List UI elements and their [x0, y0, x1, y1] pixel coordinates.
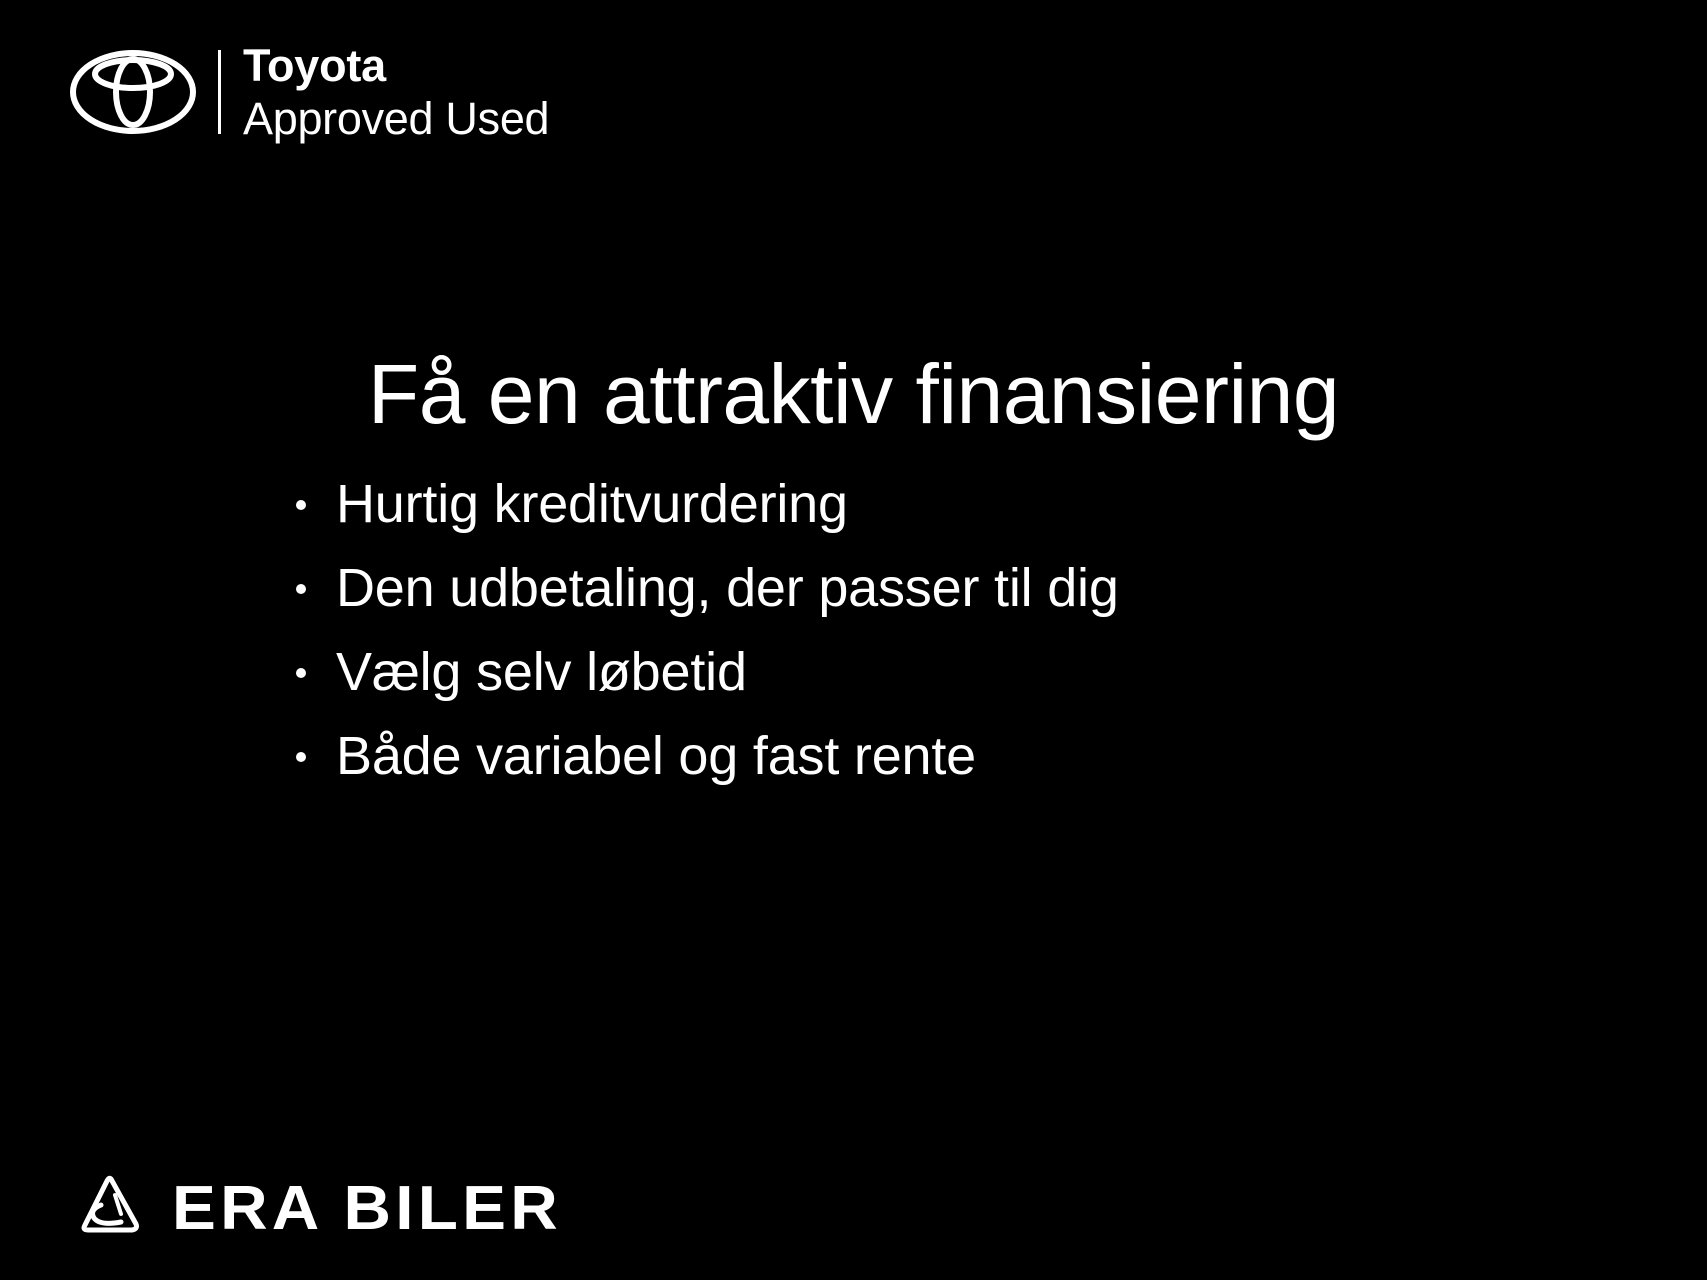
benefits-list: Hurtig kreditvurdering Den udbetaling, d… [0, 473, 1707, 789]
toyota-brand-name: Toyota [243, 43, 549, 88]
main-content: Få en attraktiv finansiering Hurtig kred… [0, 350, 1707, 809]
list-item: Vælg selv løbetid [0, 641, 1707, 705]
bullet-dot-icon [296, 668, 306, 678]
toyota-emblem-icon [70, 44, 196, 140]
toyota-wordmark: Toyota Approved Used [243, 43, 549, 141]
list-item-label: Vælg selv løbetid [336, 641, 747, 705]
list-item: Både variabel og fast rente [0, 725, 1707, 789]
era-biler-triangle-icon [74, 1172, 146, 1244]
bullet-dot-icon [296, 584, 306, 594]
list-item: Den udbetaling, der passer til dig [0, 557, 1707, 621]
list-item-label: Hurtig kreditvurdering [336, 473, 848, 537]
logo-divider [218, 50, 221, 134]
page-title: Få en attraktiv finansiering [0, 350, 1707, 439]
era-biler-wordmark: ERA BILER [172, 1173, 562, 1244]
list-item-label: Både variabel og fast rente [336, 725, 976, 789]
toyota-approved-used-logo: Toyota Approved Used [70, 43, 549, 141]
bullet-dot-icon [296, 500, 306, 510]
toyota-program-subtitle: Approved Used [243, 96, 549, 141]
list-item-label: Den udbetaling, der passer til dig [336, 557, 1119, 621]
list-item: Hurtig kreditvurdering [0, 473, 1707, 537]
era-biler-logo: ERA BILER [74, 1172, 540, 1244]
promotional-slide: Toyota Approved Used Få en attraktiv fin… [0, 0, 1707, 1280]
bullet-dot-icon [296, 752, 306, 762]
